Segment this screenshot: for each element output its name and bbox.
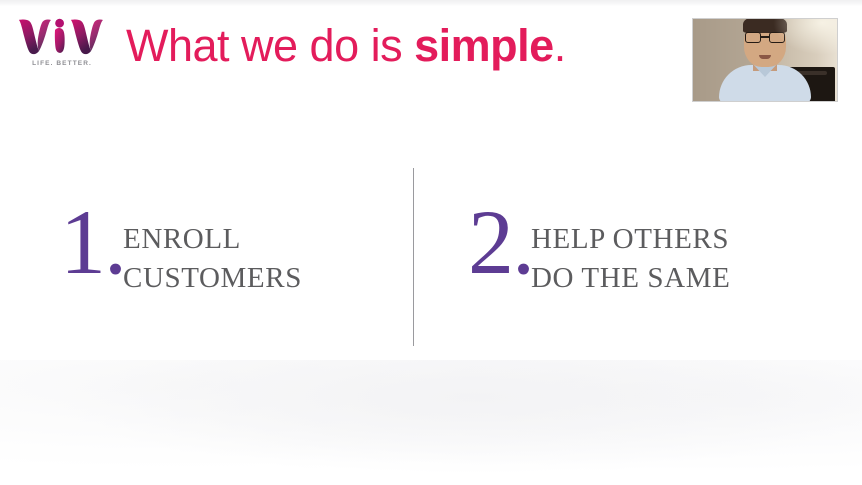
headline-prefix: What we do is	[126, 20, 414, 71]
vertical-divider	[413, 168, 414, 346]
step-item-2: 2. HELP OTHERS DO THE SAME	[468, 202, 730, 298]
viv-wordmark-icon	[16, 17, 108, 57]
headline-emphasis: simple	[414, 20, 554, 71]
headline-suffix: .	[554, 20, 566, 71]
logo-tagline: LIFE. BETTER.	[16, 60, 108, 67]
step-item-1: 1. ENROLL CUSTOMERS	[60, 202, 302, 298]
step-1-numeral: 1.	[60, 196, 125, 288]
step-2-label: HELP OTHERS DO THE SAME	[531, 220, 730, 298]
presenter-glasses-icon	[745, 32, 785, 43]
presentation-slide: LIFE. BETTER. What we do is simple. 1. E…	[0, 0, 862, 485]
step-2-label-line-1: HELP OTHERS	[531, 220, 730, 259]
step-1-label: ENROLL CUSTOMERS	[123, 220, 302, 298]
step-1-label-line-1: ENROLL	[123, 220, 302, 259]
step-2-numeral: 2.	[468, 196, 533, 288]
presenter-hair	[743, 18, 787, 33]
top-edge-strip	[0, 0, 862, 6]
presenter-video-thumbnail[interactable]	[692, 18, 838, 102]
slide-headline: What we do is simple.	[126, 18, 566, 74]
video-compression-artifact	[0, 360, 862, 485]
step-2-label-line-2: DO THE SAME	[531, 259, 730, 298]
viv-logo: LIFE. BETTER.	[16, 17, 112, 77]
step-1-label-line-2: CUSTOMERS	[123, 259, 302, 298]
